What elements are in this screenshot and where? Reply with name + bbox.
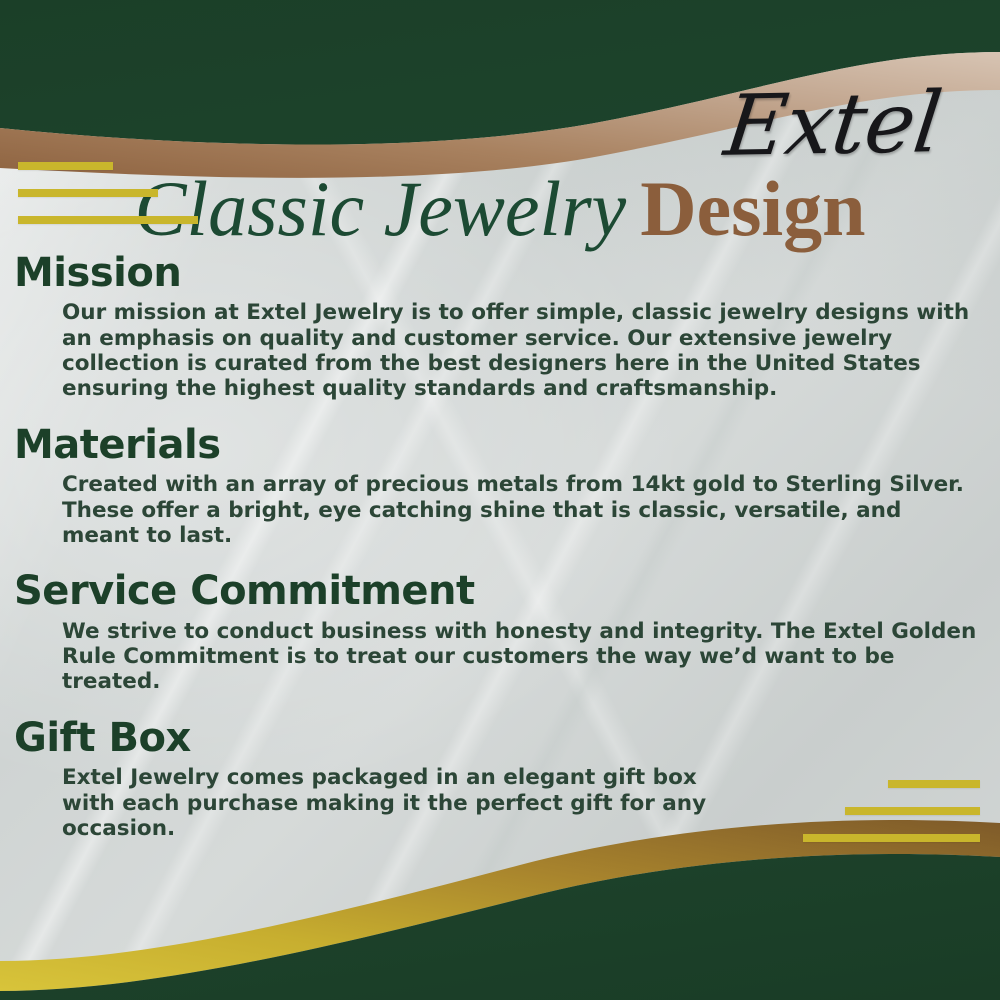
section-heading-materials: Materials (14, 424, 986, 466)
section-materials: Materials Created with an array of preci… (14, 424, 986, 548)
gold-rule (18, 189, 158, 197)
section-heading-mission: Mission (14, 252, 986, 294)
content-sections: Mission Our mission at Extel Jewelry is … (0, 252, 1000, 841)
section-heading-gift-box: Gift Box (14, 717, 986, 759)
section-body-gift-box: Extel Jewelry comes packaged in an elega… (14, 765, 754, 841)
page-title-accent: Design (640, 165, 865, 252)
section-body-mission: Our mission at Extel Jewelry is to offer… (14, 300, 984, 401)
page-title-main: Classic Jewelry (134, 165, 626, 252)
gold-rule (18, 162, 113, 170)
brand-logo: Extel (721, 80, 946, 168)
poster-canvas: Extel Classic JewelryDesign Mission Our … (0, 0, 1000, 1000)
section-mission: Mission Our mission at Extel Jewelry is … (14, 252, 986, 402)
section-service-commitment: Service Commitment We strive to conduct … (14, 570, 986, 694)
section-body-materials: Created with an array of precious metals… (14, 472, 984, 548)
section-heading-service-commitment: Service Commitment (14, 570, 986, 612)
section-body-service-commitment: We strive to conduct business with hones… (14, 619, 984, 695)
decorative-rules-top-left (18, 162, 198, 243)
section-gift-box: Gift Box Extel Jewelry comes packaged in… (14, 717, 986, 841)
gold-rule (18, 216, 198, 224)
